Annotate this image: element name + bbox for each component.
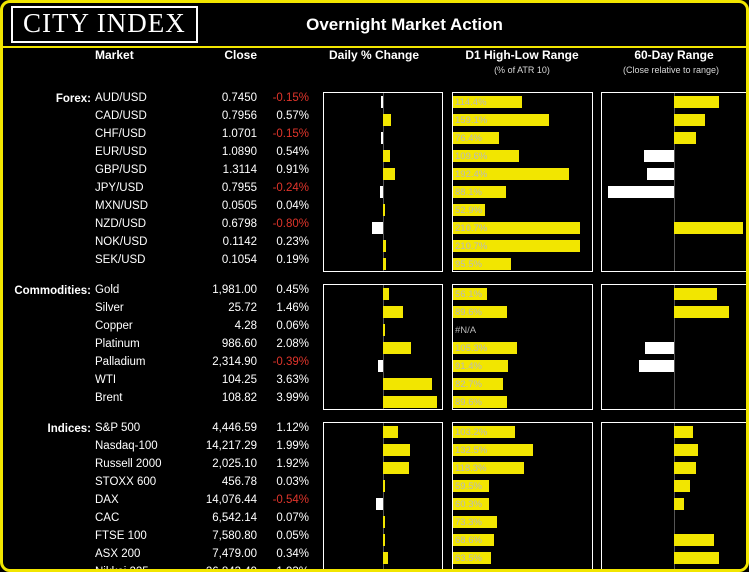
cell-daily-percent: 1.99%	[255, 440, 309, 452]
table-row[interactable]: DAX14,076.44-0.54%	[3, 494, 746, 512]
cell-daily-percent: -0.15%	[255, 128, 309, 140]
table-row[interactable]: FTSE 1007,580.800.05%	[3, 530, 746, 548]
cell-close-price: 104.25	[173, 374, 257, 386]
cell-market-name: CAC	[95, 512, 119, 524]
table-row[interactable]: ASX 2007,479.000.34%	[3, 548, 746, 566]
cell-close-price: 0.7956	[173, 110, 257, 122]
cell-market-name: AUD/USD	[95, 92, 147, 104]
cell-close-price: 25.72	[173, 302, 257, 314]
cell-market-name: FTSE 100	[95, 530, 147, 542]
column-header-market: Market	[95, 48, 175, 62]
column-headers: Market Close Daily % Change D1 High-Low …	[3, 48, 746, 92]
cell-daily-percent: -0.80%	[255, 218, 309, 230]
market-table: Forex:114.4%159.1%76.4%109.6%192.4%88.1%…	[3, 92, 746, 572]
header-bar: CITY INDEX Overnight Market Action	[3, 3, 746, 48]
table-row[interactable]: Russell 20002,025.101.92%	[3, 458, 746, 476]
cell-close-price: 0.6798	[173, 218, 257, 230]
cell-market-name: NZD/USD	[95, 218, 146, 230]
market-group: Commodities:56.1%89.6%#N/A105.3%91.4%82.…	[3, 284, 746, 410]
column-header-d1-range: D1 High-Low Range	[447, 48, 597, 62]
cell-close-price: 0.7955	[173, 182, 257, 194]
cell-daily-percent: 0.05%	[255, 530, 309, 542]
cell-close-price: 14,076.44	[173, 494, 257, 506]
column-header-60day-range: 60-Day Range	[601, 48, 747, 62]
cell-market-name: STOXX 600	[95, 476, 156, 488]
cell-daily-percent: -0.39%	[255, 356, 309, 368]
cell-daily-percent: 0.19%	[255, 254, 309, 266]
cell-close-price: 7,479.00	[173, 548, 257, 560]
cell-close-price: 0.7450	[173, 92, 257, 104]
cell-close-price: 7,580.80	[173, 530, 257, 542]
cell-close-price: 2,025.10	[173, 458, 257, 470]
cell-close-price: 108.82	[173, 392, 257, 404]
cell-market-name: WTI	[95, 374, 116, 386]
column-header-daily-change: Daily % Change	[309, 48, 439, 62]
cell-close-price: 4.28	[173, 320, 257, 332]
market-group: Indices:103.2%132.5%118.3%59.5%60.3%73.3…	[3, 422, 746, 572]
table-row[interactable]: Nikkei 22526,843.491.93%	[3, 566, 746, 572]
cell-close-price: 986.60	[173, 338, 257, 350]
cell-daily-percent: 2.08%	[255, 338, 309, 350]
cell-daily-percent: -0.24%	[255, 182, 309, 194]
cell-close-price: 0.0505	[173, 200, 257, 212]
cell-market-name: DAX	[95, 494, 119, 506]
table-row[interactable]: NOK/USD0.11420.23%	[3, 236, 746, 254]
cell-daily-percent: 0.57%	[255, 110, 309, 122]
cell-market-name: S&P 500	[95, 422, 140, 434]
column-subheader-d1-range: (% of ATR 10)	[447, 65, 597, 75]
cell-market-name: Silver	[95, 302, 124, 314]
page-title: Overnight Market Action	[3, 15, 746, 35]
cell-close-price: 0.1054	[173, 254, 257, 266]
table-row[interactable]: GBP/USD1.31140.91%	[3, 164, 746, 182]
market-group: Forex:114.4%159.1%76.4%109.6%192.4%88.1%…	[3, 92, 746, 272]
table-row[interactable]: Gold1,981.000.45%	[3, 284, 746, 302]
table-row[interactable]: Palladium2,314.90-0.39%	[3, 356, 746, 374]
cell-market-name: NOK/USD	[95, 236, 147, 248]
cell-close-price: 4,446.59	[173, 422, 257, 434]
cell-market-name: Gold	[95, 284, 119, 296]
cell-daily-percent: 0.54%	[255, 146, 309, 158]
cell-close-price: 456.78	[173, 476, 257, 488]
table-row[interactable]: CAC6,542.140.07%	[3, 512, 746, 530]
cell-market-name: JPY/USD	[95, 182, 144, 194]
table-row[interactable]: Copper4.280.06%	[3, 320, 746, 338]
cell-daily-percent: 0.34%	[255, 548, 309, 560]
table-row[interactable]: Platinum986.602.08%	[3, 338, 746, 356]
cell-market-name: Nikkei 225	[95, 566, 149, 572]
cell-market-name: CHF/USD	[95, 128, 146, 140]
column-subheader-60day-range: (Close relative to range)	[595, 65, 747, 75]
cell-market-name: SEK/USD	[95, 254, 146, 266]
table-row[interactable]: AUD/USD0.7450-0.15%	[3, 92, 746, 110]
cell-market-name: Nasdaq-100	[95, 440, 158, 452]
table-row[interactable]: NZD/USD0.6798-0.80%	[3, 218, 746, 236]
cell-daily-percent: 0.06%	[255, 320, 309, 332]
table-row[interactable]: STOXX 600456.780.03%	[3, 476, 746, 494]
cell-daily-percent: 3.99%	[255, 392, 309, 404]
cell-daily-percent: 0.03%	[255, 476, 309, 488]
cell-daily-percent: 1.92%	[255, 458, 309, 470]
cell-close-price: 1.3114	[173, 164, 257, 176]
table-row[interactable]: MXN/USD0.05050.04%	[3, 200, 746, 218]
cell-market-name: ASX 200	[95, 548, 140, 560]
app-window: CITY INDEX Overnight Market Action Marke…	[0, 0, 749, 572]
cell-market-name: Russell 2000	[95, 458, 161, 470]
table-row[interactable]: JPY/USD0.7955-0.24%	[3, 182, 746, 200]
cell-market-name: MXN/USD	[95, 200, 148, 212]
cell-close-price: 6,542.14	[173, 512, 257, 524]
column-header-close: Close	[173, 48, 257, 62]
table-row[interactable]: Nasdaq-10014,217.291.99%	[3, 440, 746, 458]
cell-daily-percent: 1.93%	[255, 566, 309, 572]
cell-daily-percent: 0.91%	[255, 164, 309, 176]
cell-daily-percent: -0.54%	[255, 494, 309, 506]
cell-daily-percent: -0.15%	[255, 92, 309, 104]
cell-close-price: 26,843.49	[173, 566, 257, 572]
cell-close-price: 2,314.90	[173, 356, 257, 368]
cell-market-name: CAD/USD	[95, 110, 147, 122]
cell-daily-percent: 1.12%	[255, 422, 309, 434]
cell-market-name: GBP/USD	[95, 164, 147, 176]
cell-market-name: Platinum	[95, 338, 140, 350]
cell-close-price: 1,981.00	[173, 284, 257, 296]
table-row[interactable]: S&P 5004,446.591.12%	[3, 422, 746, 440]
table-row[interactable]: WTI104.253.63%	[3, 374, 746, 392]
table-row[interactable]: Silver25.721.46%	[3, 302, 746, 320]
cell-daily-percent: 3.63%	[255, 374, 309, 386]
cell-market-name: Brent	[95, 392, 123, 404]
cell-market-name: Copper	[95, 320, 133, 332]
table-row[interactable]: SEK/USD0.10540.19%	[3, 254, 746, 272]
cell-close-price: 0.1142	[173, 236, 257, 248]
table-row[interactable]: CAD/USD0.79560.57%	[3, 110, 746, 128]
table-row[interactable]: CHF/USD1.0701-0.15%	[3, 128, 746, 146]
cell-close-price: 1.0890	[173, 146, 257, 158]
cell-daily-percent: 0.45%	[255, 284, 309, 296]
cell-daily-percent: 1.46%	[255, 302, 309, 314]
table-row[interactable]: Brent108.823.99%	[3, 392, 746, 410]
cell-close-price: 1.0701	[173, 128, 257, 140]
cell-close-price: 14,217.29	[173, 440, 257, 452]
cell-market-name: Palladium	[95, 356, 146, 368]
cell-daily-percent: 0.04%	[255, 200, 309, 212]
table-row[interactable]: EUR/USD1.08900.54%	[3, 146, 746, 164]
cell-daily-percent: 0.23%	[255, 236, 309, 248]
cell-market-name: EUR/USD	[95, 146, 147, 158]
cell-daily-percent: 0.07%	[255, 512, 309, 524]
